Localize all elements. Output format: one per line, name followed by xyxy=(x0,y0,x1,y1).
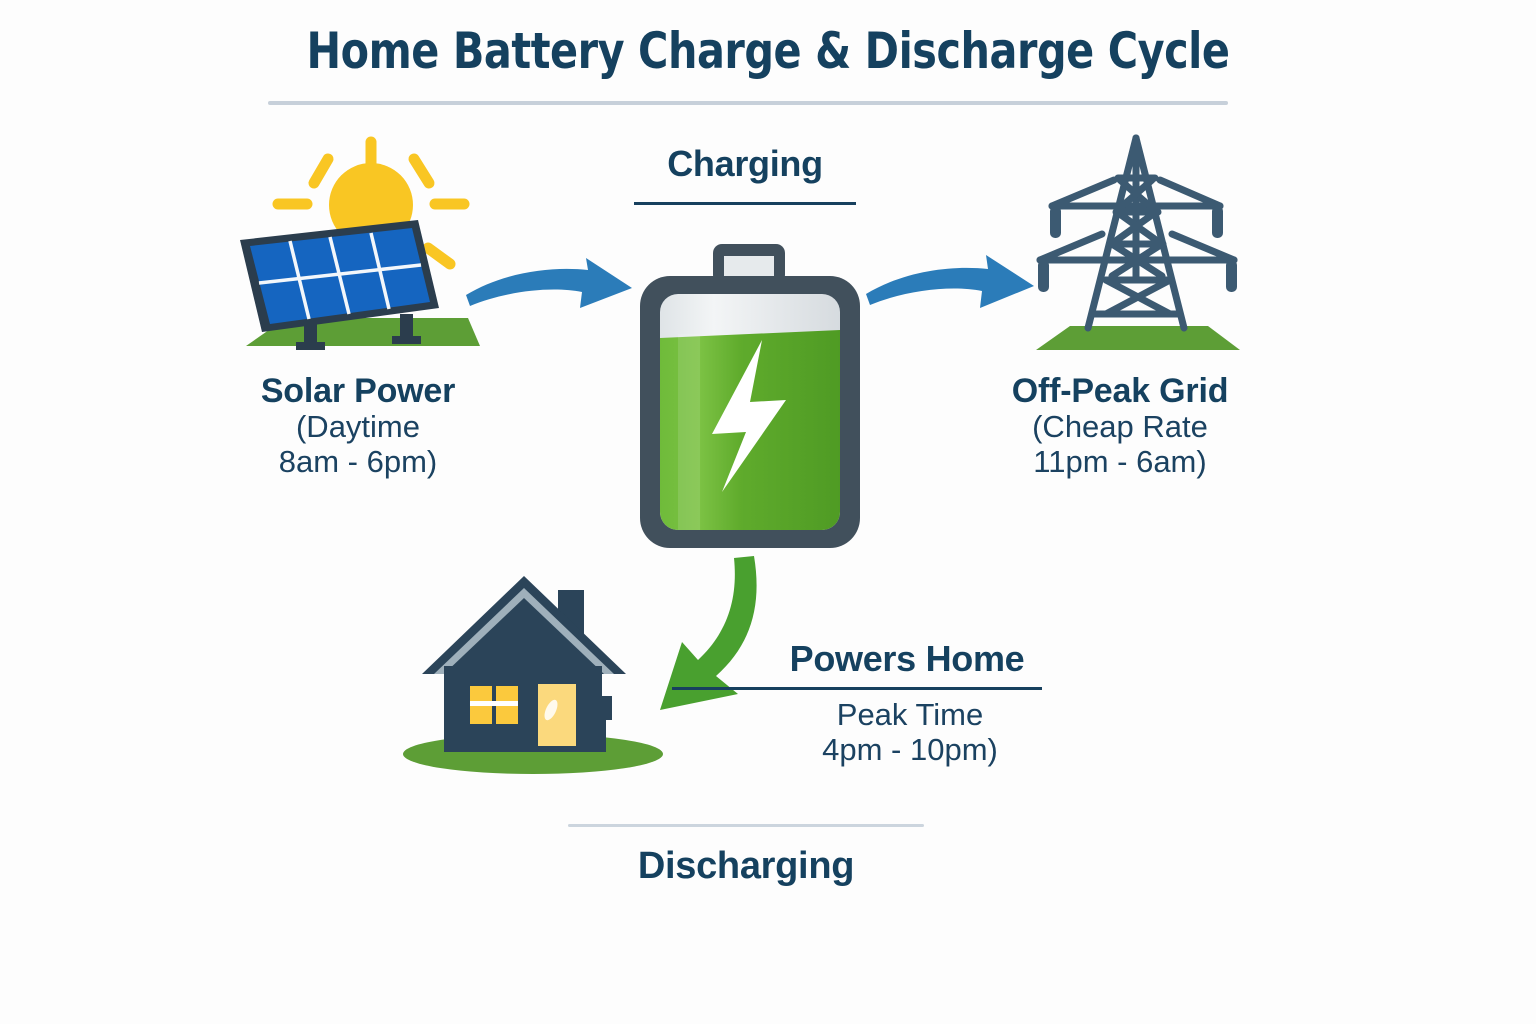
solar-label-sub1: (Daytime xyxy=(218,410,498,445)
solar-label: Solar Power (Daytime 8am - 6pm) xyxy=(218,372,498,480)
discharging-divider xyxy=(568,824,924,827)
charging-caption: Charging xyxy=(620,143,870,185)
arrow-solar-to-battery xyxy=(460,250,640,340)
charging-caption-underline xyxy=(634,202,856,205)
powers-home-detail-line1: Peak Time xyxy=(765,698,1055,733)
house-icon xyxy=(398,558,668,784)
solar-label-lead: Solar Power xyxy=(218,372,498,410)
powers-home-underline xyxy=(672,687,1042,690)
title-divider xyxy=(268,101,1228,105)
discharging-caption: Discharging xyxy=(596,845,896,888)
arrow-battery-to-grid xyxy=(860,246,1040,336)
grid-label-sub1: (Cheap Rate xyxy=(980,410,1260,445)
grid-label-lead: Off-Peak Grid xyxy=(980,372,1260,410)
power-pylon-icon xyxy=(1022,128,1252,360)
infographic-canvas: Home Battery Charge & Discharge Cycle xyxy=(0,0,1536,1024)
grid-label-sub2: 11pm - 6am) xyxy=(980,445,1260,480)
solar-label-sub2: 8am - 6pm) xyxy=(218,445,498,480)
page-title: Home Battery Charge & Discharge Cycle xyxy=(61,22,1474,80)
battery-icon xyxy=(634,242,866,554)
powers-home-caption: Powers Home xyxy=(762,638,1052,680)
solar-panel-icon xyxy=(228,128,488,358)
powers-home-detail-line2: 4pm - 10pm) xyxy=(765,733,1055,768)
grid-label: Off-Peak Grid (Cheap Rate 11pm - 6am) xyxy=(980,372,1260,480)
powers-home-detail: Peak Time 4pm - 10pm) xyxy=(765,698,1055,767)
